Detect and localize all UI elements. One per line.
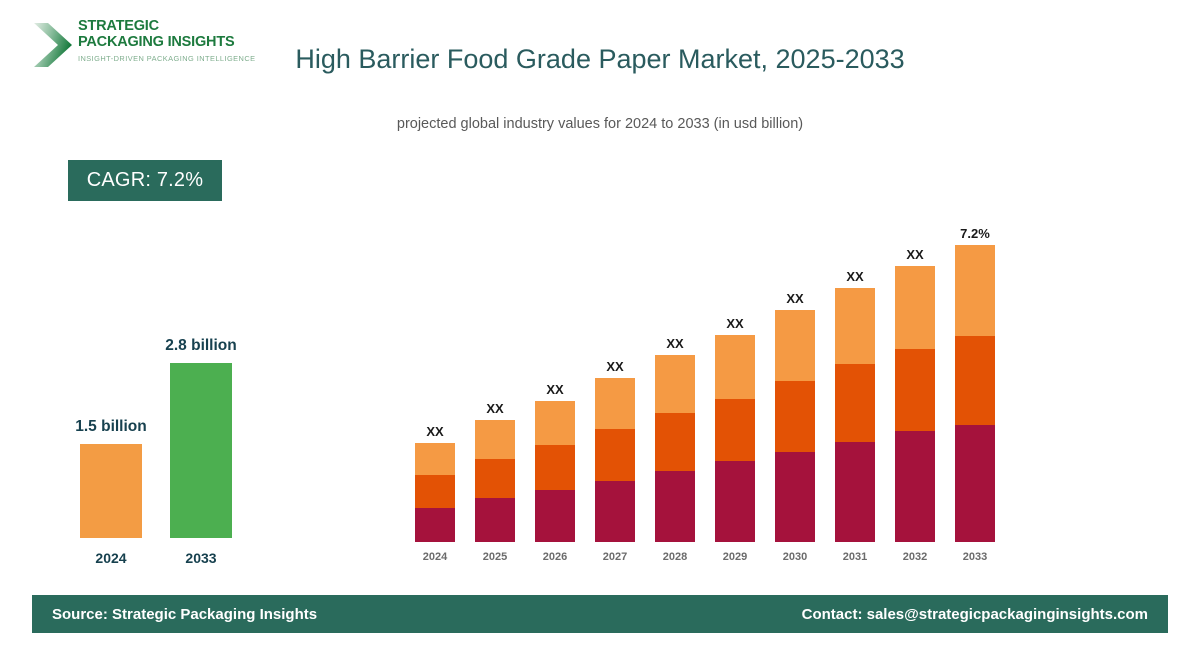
forecast-bar-segment-bottom: [775, 452, 815, 542]
comparison-bar-group: 1.5 billion2024: [80, 414, 142, 538]
forecast-bar-year-label: 2033: [947, 551, 1003, 563]
forecast-bar-group: XX2029: [715, 335, 755, 565]
forecast-bar-value-label: 7.2%: [945, 226, 1005, 241]
comparison-bar-value-label: 2.8 billion: [121, 337, 281, 355]
forecast-stacked-bar: [415, 443, 455, 542]
footer-bar: Source: Strategic Packaging Insights Con…: [32, 595, 1168, 633]
stacked-forecast-chart: XX2024XX2025XX2026XX2027XX2028XX2029XX20…: [400, 190, 1020, 565]
forecast-bar-segment-middle: [535, 445, 575, 490]
comparison-bar: [80, 444, 142, 538]
comparison-bar-group: 2.8 billion2033: [170, 333, 232, 538]
forecast-bar-year-label: 2027: [587, 551, 643, 563]
logo-line-1: STRATEGIC: [78, 18, 256, 34]
forecast-stacked-bar: [595, 378, 635, 542]
forecast-bar-segment-top: [475, 420, 515, 459]
forecast-bar-segment-middle: [595, 429, 635, 481]
forecast-stacked-bar: [895, 266, 935, 542]
forecast-stacked-bar: [835, 288, 875, 542]
forecast-bar-value-label: XX: [705, 316, 765, 331]
forecast-bar-segment-top: [595, 378, 635, 429]
forecast-bar-segment-bottom: [835, 442, 875, 542]
logo-tagline: INSIGHT-DRIVEN PACKAGING INTELLIGENCE: [78, 54, 256, 63]
forecast-bar-group: XX2031: [835, 288, 875, 565]
forecast-stacked-bar: [655, 355, 695, 542]
forecast-bar-segment-top: [835, 288, 875, 364]
forecast-bar-value-label: XX: [765, 291, 825, 306]
logo-line-2: PACKAGING INSIGHTS: [78, 34, 256, 50]
forecast-bar-segment-bottom: [415, 508, 455, 542]
forecast-bar-segment-middle: [955, 336, 995, 425]
forecast-stacked-bar: [775, 310, 815, 542]
forecast-bar-segment-top: [895, 266, 935, 349]
chevron-logo-icon: [32, 20, 74, 70]
forecast-bar-segment-top: [955, 245, 995, 336]
forecast-bar-group: XX2025: [475, 420, 515, 565]
forecast-bar-segment-bottom: [475, 498, 515, 542]
comparison-bar-year-label: 2033: [141, 550, 261, 566]
forecast-bar-segment-middle: [715, 399, 755, 461]
forecast-bar-segment-top: [715, 335, 755, 399]
forecast-bar-segment-middle: [775, 381, 815, 452]
forecast-stacked-bar: [475, 420, 515, 542]
page-subtitle: projected global industry values for 202…: [250, 116, 950, 132]
forecast-bar-value-label: XX: [825, 269, 885, 284]
forecast-stacked-bar: [955, 245, 995, 542]
forecast-bar-group: 7.2%2033: [955, 245, 995, 565]
forecast-bar-value-label: XX: [405, 424, 465, 439]
forecast-bar-year-label: 2032: [887, 551, 943, 563]
forecast-bar-segment-top: [535, 401, 575, 445]
footer-contact: Contact: sales@strategicpackaginginsight…: [802, 606, 1148, 623]
forecast-bar-segment-bottom: [715, 461, 755, 542]
forecast-stacked-bar: [715, 335, 755, 542]
infographic-page: STRATEGIC PACKAGING INSIGHTS INSIGHT-DRI…: [0, 0, 1200, 650]
forecast-bar-segment-bottom: [655, 471, 695, 542]
forecast-bar-segment-top: [775, 310, 815, 381]
forecast-bar-group: XX2027: [595, 378, 635, 565]
forecast-bar-segment-top: [415, 443, 455, 475]
cagr-badge: CAGR: 7.2%: [68, 160, 222, 201]
cagr-badge-label: CAGR: 7.2%: [87, 169, 203, 192]
forecast-bar-value-label: XX: [885, 247, 945, 262]
comparison-bar: [170, 363, 232, 538]
forecast-bar-segment-middle: [655, 413, 695, 471]
forecast-bar-segment-middle: [895, 349, 935, 431]
forecast-bar-year-label: 2029: [707, 551, 763, 563]
forecast-bar-segment-middle: [475, 459, 515, 498]
market-size-comparison-chart: 1.5 billion20242.8 billion2033: [40, 300, 280, 570]
forecast-bar-group: XX2030: [775, 310, 815, 565]
forecast-bar-segment-bottom: [955, 425, 995, 542]
forecast-bar-value-label: XX: [525, 382, 585, 397]
forecast-bar-year-label: 2028: [647, 551, 703, 563]
comparison-bar-value-label: 1.5 billion: [31, 418, 191, 436]
forecast-bar-group: XX2032: [895, 266, 935, 565]
forecast-bar-group: XX2028: [655, 355, 695, 565]
forecast-bar-group: XX2024: [415, 443, 455, 565]
company-logo: STRATEGIC PACKAGING INSIGHTS INSIGHT-DRI…: [32, 18, 252, 76]
forecast-bar-year-label: 2024: [407, 551, 463, 563]
forecast-bar-segment-middle: [415, 475, 455, 508]
forecast-bar-segment-bottom: [535, 490, 575, 542]
forecast-bar-year-label: 2030: [767, 551, 823, 563]
forecast-bar-year-label: 2025: [467, 551, 523, 563]
forecast-bar-year-label: 2031: [827, 551, 883, 563]
forecast-bar-value-label: XX: [585, 359, 645, 374]
forecast-bar-group: XX2026: [535, 401, 575, 565]
forecast-stacked-bar: [535, 401, 575, 542]
forecast-bar-year-label: 2026: [527, 551, 583, 563]
footer-source: Source: Strategic Packaging Insights: [52, 606, 317, 623]
forecast-bar-segment-bottom: [595, 481, 635, 542]
forecast-bar-value-label: XX: [645, 336, 705, 351]
forecast-bar-segment-middle: [835, 364, 875, 442]
forecast-bar-value-label: XX: [465, 401, 525, 416]
forecast-bar-segment-top: [655, 355, 695, 413]
page-title: High Barrier Food Grade Paper Market, 20…: [250, 40, 950, 78]
forecast-bar-segment-bottom: [895, 431, 935, 542]
